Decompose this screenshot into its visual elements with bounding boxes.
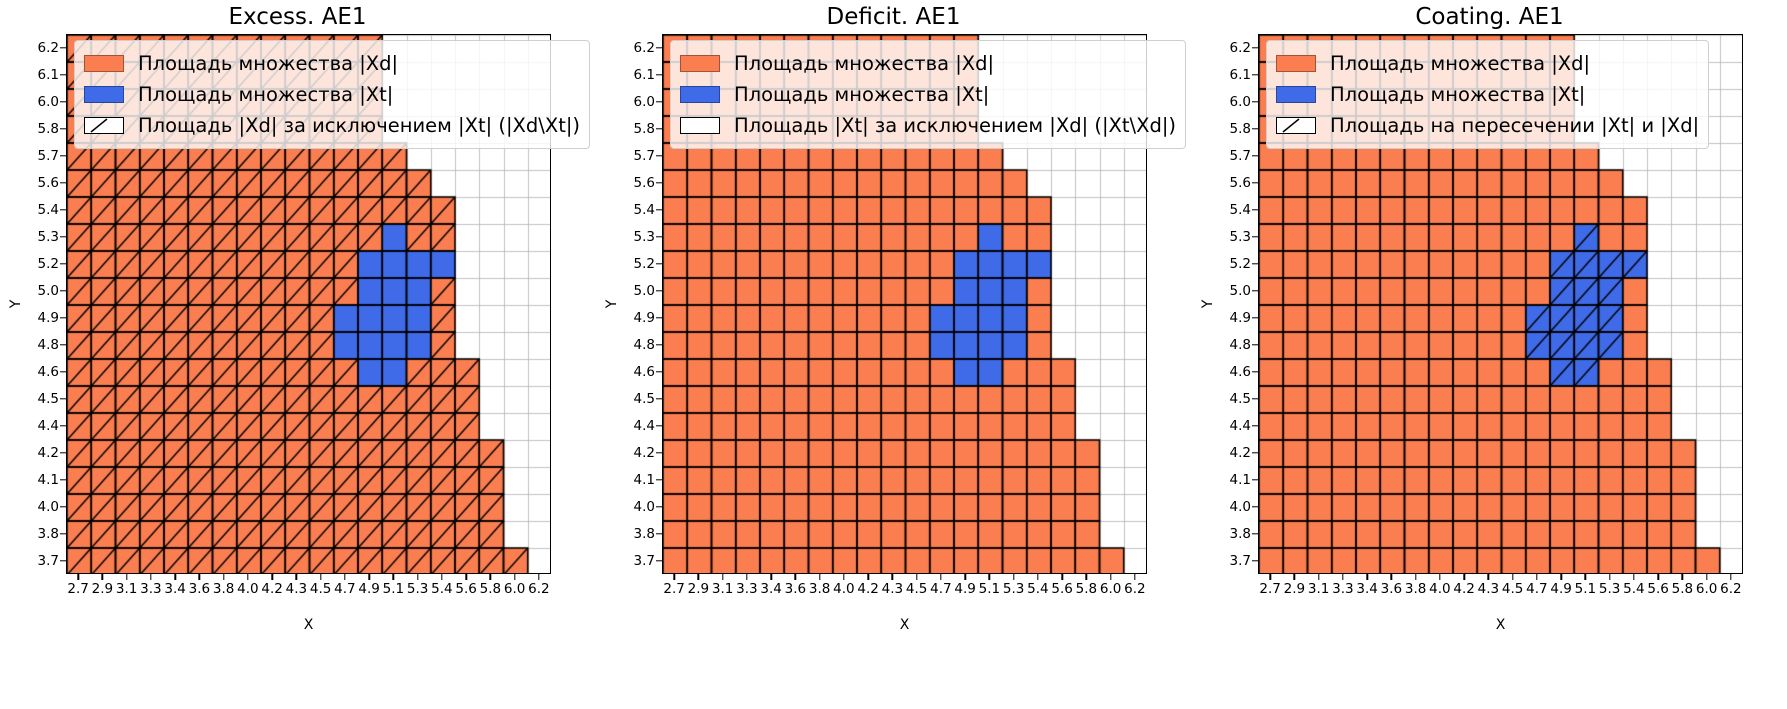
y-tick-mark (656, 479, 662, 480)
y-tick-mark (1252, 479, 1258, 480)
x-tick-mark (490, 574, 491, 580)
y-axis-label: Y (1200, 300, 1216, 309)
x-tick-mark (1294, 574, 1295, 580)
x-tick-mark (320, 574, 321, 580)
x-tick-mark (1134, 574, 1135, 580)
y-tick-mark (1252, 533, 1258, 534)
x-tick-label: 5.6 (455, 581, 476, 597)
y-tick-mark (60, 209, 66, 210)
x-tick-mark (102, 574, 103, 580)
x-tick-mark (1536, 574, 1537, 580)
y-tick-mark (1252, 371, 1258, 372)
y-tick-label: 4.6 (38, 364, 59, 380)
x-tick-mark (174, 574, 175, 580)
x-tick-label: 5.8 (1672, 581, 1693, 597)
y-tick-mark (1252, 101, 1258, 102)
y-tick-label: 5.4 (38, 202, 59, 218)
x-tick-mark (1609, 574, 1610, 580)
x-tick-mark (1269, 574, 1270, 580)
y-tick-label: 6.2 (634, 40, 655, 56)
x-tick-mark (296, 574, 297, 580)
x-tick-label: 4.7 (930, 581, 951, 597)
y-tick-mark (656, 128, 662, 129)
x-tick-label: 5.4 (1027, 581, 1048, 597)
y-tick-mark (1252, 290, 1258, 291)
x-tick-label: 2.9 (688, 581, 709, 597)
x-tick-label: 3.1 (712, 581, 733, 597)
y-tick-label: 5.7 (1230, 148, 1251, 164)
y-tick-label: 5.0 (1230, 283, 1251, 299)
legend-label: Площадь множества |Xd| (138, 54, 398, 74)
panel-coating: Coating. AE1 6.26.16.05.85.75.65.45.35.2… (1192, 0, 1787, 709)
x-tick-label: 4.2 (857, 581, 878, 597)
x-tick-label: 3.3 (736, 581, 757, 597)
x-tick-label: 3.1 (1308, 581, 1329, 597)
y-tick-label: 4.2 (634, 445, 655, 461)
legend-label: Площадь множества |Xt| (138, 85, 393, 105)
y-tick-label: 6.0 (1230, 94, 1251, 110)
x-tick-label: 6.0 (504, 581, 525, 597)
y-tick-mark (1252, 560, 1258, 561)
x-tick-mark (1585, 574, 1586, 580)
y-tick-label: 5.2 (1230, 256, 1251, 272)
x-tick-mark (514, 574, 515, 580)
x-tick-mark (1391, 574, 1392, 580)
y-tick-mark (1252, 155, 1258, 156)
figure-root: Excess. AE1 6.26.16.05.85.75.65.45.35.25… (0, 0, 1787, 709)
x-tick-mark (964, 574, 965, 580)
legend-row: Площадь множества |Xd| (680, 48, 1176, 79)
x-tick-label: 4.9 (1550, 581, 1571, 597)
legend-swatch-fill (1276, 55, 1316, 72)
legend-swatch-empty (680, 117, 720, 134)
y-tick-label: 4.1 (1230, 472, 1251, 488)
y-tick-label: 5.2 (634, 256, 655, 272)
y-tick-label: 6.2 (38, 40, 59, 56)
y-tick-mark (656, 236, 662, 237)
y-tick-label: 4.8 (1230, 337, 1251, 353)
y-tick-label: 4.6 (1230, 364, 1251, 380)
legend-row: Площадь |Xt| за исключением |Xd| (|Xt\Xd… (680, 110, 1176, 141)
x-tick-mark (1488, 574, 1489, 580)
y-tick-label: 4.0 (634, 499, 655, 515)
y-tick-mark (60, 479, 66, 480)
y-tick-mark (656, 371, 662, 372)
x-tick-label: 3.3 (140, 581, 161, 597)
y-axis-label: Y (8, 300, 24, 309)
y-tick-mark (60, 236, 66, 237)
x-tick-label: 4.3 (1478, 581, 1499, 597)
y-tick-label: 5.6 (1230, 175, 1251, 191)
x-tick-mark (1730, 574, 1731, 580)
legend-label: Площадь множества |Xt| (1330, 85, 1585, 105)
y-tick-label: 4.2 (1230, 445, 1251, 461)
x-tick-mark (1037, 574, 1038, 580)
x-tick-mark (247, 574, 248, 580)
x-tick-label: 3.8 (1405, 581, 1426, 597)
y-tick-mark (656, 506, 662, 507)
y-tick-mark (656, 101, 662, 102)
x-tick-mark (795, 574, 796, 580)
x-tick-label: 6.2 (528, 581, 549, 597)
y-tick-mark (1252, 236, 1258, 237)
legend-swatch-fill (680, 86, 720, 103)
y-tick-mark (1252, 182, 1258, 183)
legend-label: Площадь |Xt| за исключением |Xd| (|Xt\Xd… (734, 116, 1176, 136)
x-tick-label: 3.6 (785, 581, 806, 597)
legend-swatch-fill (84, 55, 124, 72)
x-tick-label: 5.3 (1003, 581, 1024, 597)
y-tick-label: 6.0 (634, 94, 655, 110)
x-tick-mark (393, 574, 394, 580)
x-tick-mark (538, 574, 539, 580)
x-tick-mark (1415, 574, 1416, 580)
y-tick-label: 5.7 (38, 148, 59, 164)
y-tick-label: 5.8 (38, 121, 59, 137)
y-tick-label: 3.8 (1230, 526, 1251, 542)
legend-swatch-hatch (84, 117, 124, 134)
y-tick-mark (60, 560, 66, 561)
panel-title: Excess. AE1 (0, 2, 595, 32)
legend-excess[interactable]: Площадь множества |Xd|Площадь множества … (74, 40, 590, 149)
x-tick-label: 4.7 (1526, 581, 1547, 597)
x-tick-label: 3.3 (1332, 581, 1353, 597)
x-tick-mark (1657, 574, 1658, 580)
y-tick-label: 4.4 (1230, 418, 1251, 434)
y-tick-label: 5.4 (634, 202, 655, 218)
x-tick-label: 5.4 (431, 581, 452, 597)
x-tick-label: 5.6 (1647, 581, 1668, 597)
y-axis-label: Y (604, 300, 620, 309)
x-tick-label: 4.3 (286, 581, 307, 597)
x-axis-label: X (66, 617, 551, 633)
y-tick-label: 5.2 (38, 256, 59, 272)
y-tick-label: 5.3 (38, 229, 59, 245)
y-tick-label: 5.4 (1230, 202, 1251, 218)
y-tick-mark (656, 344, 662, 345)
x-tick-label: 4.0 (1429, 581, 1450, 597)
x-tick-mark (441, 574, 442, 580)
y-tick-label: 4.5 (38, 391, 59, 407)
legend-label: Площадь множества |Xd| (734, 54, 994, 74)
y-tick-mark (656, 155, 662, 156)
x-axis-label: X (662, 617, 1147, 633)
y-tick-label: 3.7 (1230, 553, 1251, 569)
y-tick-mark (1252, 47, 1258, 48)
x-tick-label: 4.5 (1502, 581, 1523, 597)
y-tick-label: 6.0 (38, 94, 59, 110)
y-tick-label: 3.8 (634, 526, 655, 542)
y-tick-label: 5.6 (634, 175, 655, 191)
y-tick-mark (1252, 344, 1258, 345)
y-tick-label: 5.8 (1230, 121, 1251, 137)
y-tick-mark (656, 560, 662, 561)
legend-label: Площадь множества |Xd| (1330, 54, 1590, 74)
legend-row: Площадь множества |Xt| (1276, 79, 1699, 110)
y-tick-label: 6.1 (634, 67, 655, 83)
x-tick-mark (77, 574, 78, 580)
x-tick-label: 3.6 (189, 581, 210, 597)
y-tick-mark (1252, 425, 1258, 426)
x-tick-label: 3.8 (213, 581, 234, 597)
y-tick-mark (656, 425, 662, 426)
x-tick-label: 6.0 (1100, 581, 1121, 597)
x-tick-mark (843, 574, 844, 580)
y-tick-mark (60, 452, 66, 453)
x-tick-mark (1633, 574, 1634, 580)
x-tick-label: 5.3 (407, 581, 428, 597)
x-tick-label: 4.3 (882, 581, 903, 597)
x-tick-label: 4.5 (906, 581, 927, 597)
x-tick-label: 5.4 (1623, 581, 1644, 597)
x-tick-label: 3.4 (760, 581, 781, 597)
x-tick-label: 4.9 (358, 581, 379, 597)
legend-label: Площадь множества |Xt| (734, 85, 989, 105)
x-tick-mark (989, 574, 990, 580)
y-tick-mark (60, 155, 66, 156)
y-tick-mark (1252, 452, 1258, 453)
y-tick-mark (656, 182, 662, 183)
x-tick-mark (1706, 574, 1707, 580)
x-tick-mark (126, 574, 127, 580)
y-tick-mark (656, 452, 662, 453)
x-tick-label: 5.8 (1076, 581, 1097, 597)
y-tick-mark (656, 47, 662, 48)
x-tick-label: 5.6 (1051, 581, 1072, 597)
y-tick-label: 3.7 (634, 553, 655, 569)
y-tick-mark (60, 128, 66, 129)
y-tick-label: 5.3 (1230, 229, 1251, 245)
y-tick-label: 6.1 (1230, 67, 1251, 83)
x-tick-mark (1342, 574, 1343, 580)
y-tick-label: 4.6 (634, 364, 655, 380)
x-axis-label: X (1258, 617, 1743, 633)
x-tick-mark (867, 574, 868, 580)
legend-swatch-fill (1276, 86, 1316, 103)
y-tick-mark (60, 290, 66, 291)
legend-row: Площадь множества |Xt| (680, 79, 1176, 110)
y-tick-label: 3.8 (38, 526, 59, 542)
y-tick-label: 6.2 (1230, 40, 1251, 56)
x-tick-mark (673, 574, 674, 580)
x-tick-mark (698, 574, 699, 580)
x-tick-mark (892, 574, 893, 580)
y-tick-label: 5.6 (38, 175, 59, 191)
x-tick-mark (271, 574, 272, 580)
x-tick-label: 4.0 (237, 581, 258, 597)
x-tick-mark (150, 574, 151, 580)
x-tick-label: 5.1 (383, 581, 404, 597)
y-tick-label: 4.5 (634, 391, 655, 407)
x-tick-label: 4.2 (1453, 581, 1474, 597)
x-tick-label: 4.2 (261, 581, 282, 597)
y-tick-mark (60, 533, 66, 534)
y-tick-mark (656, 533, 662, 534)
y-tick-mark (60, 101, 66, 102)
x-tick-label: 3.4 (164, 581, 185, 597)
y-tick-label: 4.9 (38, 310, 59, 326)
x-tick-mark (770, 574, 771, 580)
x-tick-label: 3.8 (809, 581, 830, 597)
x-tick-label: 3.4 (1356, 581, 1377, 597)
y-tick-mark (60, 371, 66, 372)
y-tick-mark (1252, 128, 1258, 129)
x-tick-mark (1512, 574, 1513, 580)
x-tick-mark (199, 574, 200, 580)
y-tick-label: 4.4 (38, 418, 59, 434)
y-tick-mark (656, 290, 662, 291)
x-tick-label: 3.6 (1381, 581, 1402, 597)
panel-excess: Excess. AE1 6.26.16.05.85.75.65.45.35.25… (0, 0, 595, 709)
y-tick-mark (60, 425, 66, 426)
legend-label: Площадь |Xd| за исключением |Xt| (|Xd\Xt… (138, 116, 580, 136)
x-tick-label: 4.9 (954, 581, 975, 597)
y-tick-mark (60, 398, 66, 399)
y-tick-mark (1252, 74, 1258, 75)
x-tick-mark (1110, 574, 1111, 580)
y-tick-mark (60, 506, 66, 507)
y-tick-mark (656, 74, 662, 75)
y-tick-label: 5.0 (38, 283, 59, 299)
y-tick-mark (656, 263, 662, 264)
y-tick-mark (656, 398, 662, 399)
y-tick-label: 4.9 (1230, 310, 1251, 326)
panel-title: Deficit. AE1 (596, 2, 1191, 32)
y-tick-label: 5.3 (634, 229, 655, 245)
y-tick-mark (60, 182, 66, 183)
legend-deficit[interactable]: Площадь множества |Xd|Площадь множества … (670, 40, 1186, 149)
x-tick-label: 2.7 (1259, 581, 1280, 597)
x-tick-mark (223, 574, 224, 580)
y-tick-label: 4.8 (38, 337, 59, 353)
legend-row: Площадь |Xd| за исключением |Xt| (|Xd\Xt… (84, 110, 580, 141)
legend-swatch-fill (680, 55, 720, 72)
y-tick-mark (656, 317, 662, 318)
y-tick-label: 4.4 (634, 418, 655, 434)
x-tick-label: 4.5 (310, 581, 331, 597)
x-tick-label: 6.2 (1720, 581, 1741, 597)
x-tick-label: 6.0 (1696, 581, 1717, 597)
x-tick-mark (1463, 574, 1464, 580)
panel-title: Coating. AE1 (1192, 2, 1787, 32)
x-tick-mark (722, 574, 723, 580)
y-tick-mark (1252, 209, 1258, 210)
x-tick-mark (1013, 574, 1014, 580)
y-tick-label: 3.7 (38, 553, 59, 569)
x-tick-label: 5.3 (1599, 581, 1620, 597)
legend-swatch-hatch (1276, 117, 1316, 134)
x-tick-label: 2.7 (67, 581, 88, 597)
x-tick-mark (940, 574, 941, 580)
y-tick-mark (1252, 317, 1258, 318)
y-tick-label: 4.2 (38, 445, 59, 461)
y-tick-label: 5.7 (634, 148, 655, 164)
y-tick-label: 4.1 (38, 472, 59, 488)
legend-row: Площадь множества |Xd| (84, 48, 580, 79)
x-tick-label: 5.8 (480, 581, 501, 597)
x-tick-mark (1086, 574, 1087, 580)
x-tick-mark (368, 574, 369, 580)
x-tick-mark (1439, 574, 1440, 580)
y-tick-mark (60, 47, 66, 48)
x-tick-label: 5.1 (1575, 581, 1596, 597)
legend-row: Площадь множества |Xd| (1276, 48, 1699, 79)
x-tick-label: 2.9 (1284, 581, 1305, 597)
x-tick-mark (916, 574, 917, 580)
y-tick-label: 4.0 (1230, 499, 1251, 515)
x-tick-mark (1682, 574, 1683, 580)
x-tick-mark (819, 574, 820, 580)
y-tick-label: 5.0 (634, 283, 655, 299)
x-tick-mark (465, 574, 466, 580)
x-tick-label: 2.7 (663, 581, 684, 597)
x-tick-label: 5.1 (979, 581, 1000, 597)
y-tick-mark (60, 74, 66, 75)
y-tick-mark (1252, 263, 1258, 264)
x-tick-mark (746, 574, 747, 580)
y-tick-label: 5.8 (634, 121, 655, 137)
legend-coating[interactable]: Площадь множества |Xd|Площадь множества … (1266, 40, 1709, 149)
x-tick-label: 4.7 (334, 581, 355, 597)
y-tick-mark (1252, 398, 1258, 399)
x-tick-label: 6.2 (1124, 581, 1145, 597)
x-tick-label: 4.0 (833, 581, 854, 597)
y-tick-label: 4.8 (634, 337, 655, 353)
legend-label: Площадь на пересечении |Xt| и |Xd| (1330, 116, 1699, 136)
y-tick-mark (1252, 506, 1258, 507)
x-tick-mark (1366, 574, 1367, 580)
x-tick-mark (1061, 574, 1062, 580)
y-tick-label: 4.9 (634, 310, 655, 326)
y-tick-mark (60, 344, 66, 345)
y-tick-label: 4.5 (1230, 391, 1251, 407)
y-tick-mark (60, 263, 66, 264)
x-tick-mark (417, 574, 418, 580)
x-tick-mark (344, 574, 345, 580)
x-tick-label: 2.9 (92, 581, 113, 597)
legend-row: Площадь множества |Xt| (84, 79, 580, 110)
legend-row: Площадь на пересечении |Xt| и |Xd| (1276, 110, 1699, 141)
x-tick-mark (1318, 574, 1319, 580)
y-tick-mark (60, 317, 66, 318)
y-tick-label: 4.0 (38, 499, 59, 515)
y-tick-label: 6.1 (38, 67, 59, 83)
y-tick-label: 4.1 (634, 472, 655, 488)
x-tick-mark (1560, 574, 1561, 580)
x-tick-label: 3.1 (116, 581, 137, 597)
panel-deficit: Deficit. AE1 6.26.16.05.85.75.65.45.35.2… (596, 0, 1191, 709)
legend-swatch-fill (84, 86, 124, 103)
y-tick-mark (656, 209, 662, 210)
